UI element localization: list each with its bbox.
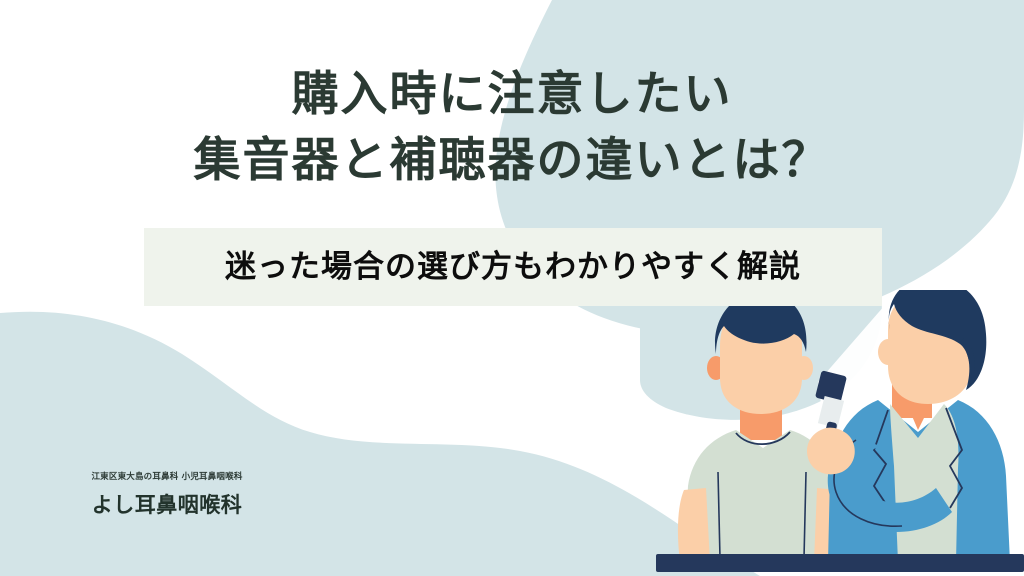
title-line-1: 購入時に注意したい (0, 62, 1024, 128)
clinic-logo: 江東区東大島の耳鼻科 小児耳鼻咽喉科 よし耳鼻咽喉科 (52, 470, 282, 519)
subtitle-band: 迷った場合の選び方もわかりやすく解説 (144, 228, 882, 306)
title-line-2: 集音器と補聴器の違いとは？ (0, 128, 1024, 194)
page-title: 購入時に注意したい 集音器と補聴器の違いとは？ (0, 62, 1024, 194)
slide-canvas: 購入時に注意したい 集音器と補聴器の違いとは？ 迷った場合の選び方もわかりやすく… (0, 0, 1024, 576)
clinic-logo-name: よし耳鼻咽喉科 (52, 489, 282, 519)
patient-left-arm (678, 488, 710, 562)
subtitle-text: 迷った場合の選び方もわかりやすく解説 (225, 249, 801, 285)
doctor-hand (807, 428, 855, 475)
illustration-ear-examination (640, 290, 1024, 576)
desk-bar (656, 554, 1024, 572)
clinic-logo-tagline: 江東区東大島の耳鼻科 小児耳鼻咽喉科 (52, 470, 282, 482)
